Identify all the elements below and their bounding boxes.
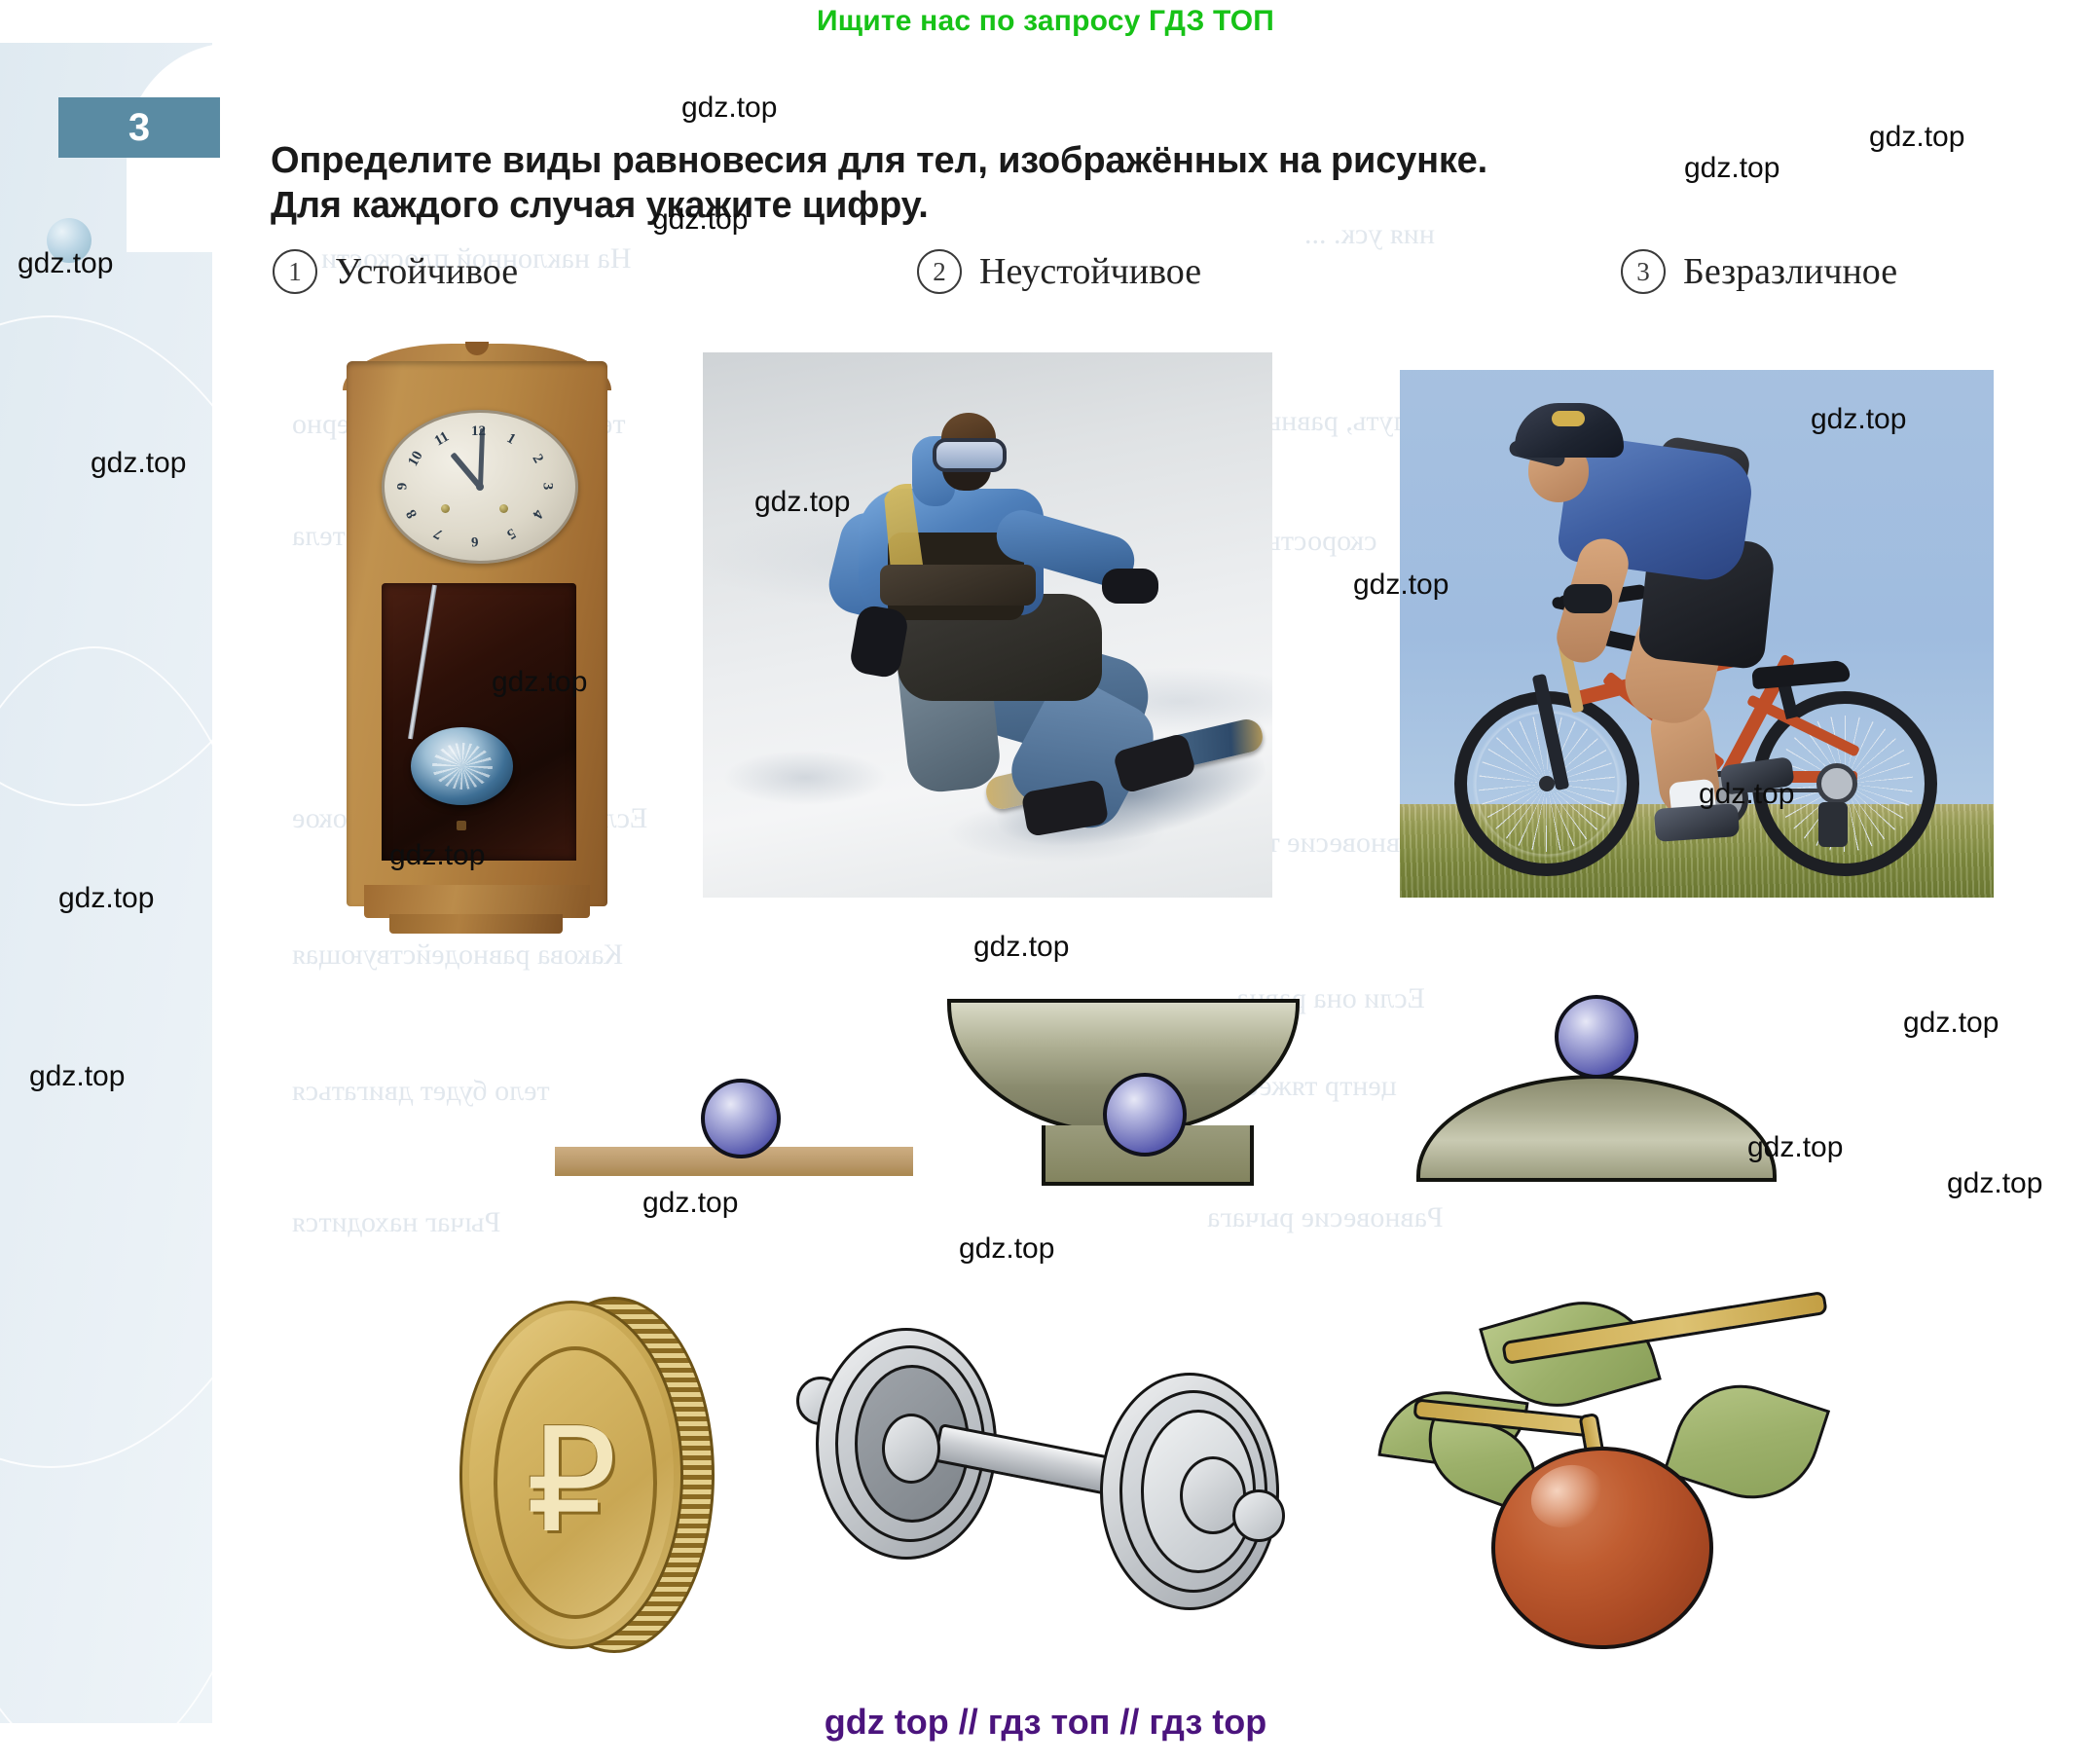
bicycle-rear-derailleur xyxy=(1818,802,1848,847)
site-watermark: gdz.top xyxy=(652,203,748,237)
site-watermark: gdz.top xyxy=(1903,1007,1999,1040)
figure-ball-in-bowl xyxy=(930,989,1319,1203)
dumbbell-left-collar xyxy=(882,1414,940,1484)
convex-dome xyxy=(1416,1075,1777,1182)
site-watermark: gdz.top xyxy=(1353,569,1449,602)
figure-dumbbell xyxy=(779,1308,1324,1630)
clock-numeral-11: 11 xyxy=(432,428,453,450)
legend-item-stable: 1 Устойчивое xyxy=(273,249,518,294)
photo-top-white-band xyxy=(1400,352,1994,370)
clock-numeral-7: 7 xyxy=(431,525,446,542)
figure-apple-on-branch xyxy=(1363,1299,1850,1688)
figure-snowboarder-photo xyxy=(703,352,1272,898)
site-watermark: gdz.top xyxy=(681,92,777,125)
front-wheel-hub xyxy=(1539,776,1555,791)
sphere-on-plank xyxy=(701,1079,781,1158)
clock-base xyxy=(364,885,590,918)
site-watermark: gdz.top xyxy=(18,247,113,280)
site-watermark: gdz.top xyxy=(973,931,1069,964)
snowboarder-right-glove xyxy=(1102,569,1158,604)
site-watermark: gdz.top xyxy=(959,1232,1054,1266)
clock-numeral-1: 1 xyxy=(503,430,518,448)
legend-number-1: 1 xyxy=(273,249,317,294)
bicycle-cassette xyxy=(1816,763,1857,804)
clock-base-foot xyxy=(389,914,563,934)
site-watermark: gdz.top xyxy=(1869,121,1964,154)
site-watermark: gdz.top xyxy=(1747,1131,1843,1164)
textbook-page: На наклонной плоскостиния уск. ...тело д… xyxy=(0,43,2091,1764)
legend-label-3: Безразличное xyxy=(1683,250,1897,293)
clock-numeral-2: 2 xyxy=(529,452,546,466)
site-watermark: gdz.top xyxy=(642,1187,738,1220)
legend-label-1: Устойчивое xyxy=(335,250,518,293)
site-watermark: gdz.top xyxy=(1811,403,1906,436)
sphere-on-dome xyxy=(1555,995,1638,1079)
task-number: 3 xyxy=(128,108,150,147)
task-prompt-line-1: Определите виды равновесия для тел, изоб… xyxy=(271,138,1789,183)
equilibrium-type-legend: 1 Устойчивое 2 Неустойчивое 3 Безразличн… xyxy=(273,249,2025,308)
dumbbell-right-end-cap xyxy=(1232,1489,1285,1542)
clock-numeral-12: 12 xyxy=(471,423,486,440)
site-watermark: gdz.top xyxy=(492,666,587,699)
site-watermark: gdz.top xyxy=(58,882,154,915)
legend-item-unstable: 2 Неустойчивое xyxy=(917,249,1201,294)
clock-winding-hole-left xyxy=(441,504,450,513)
clock-numeral-3: 3 xyxy=(538,483,555,491)
site-watermark: gdz.top xyxy=(29,1060,125,1093)
clock-winding-hole-right xyxy=(499,504,508,513)
clock-numeral-4: 4 xyxy=(529,506,546,521)
clock-numeral-9: 9 xyxy=(394,483,411,491)
snowboarder-waist-belt xyxy=(880,565,1036,606)
site-watermark: gdz.top xyxy=(754,486,850,519)
figure-ball-on-flat-plank xyxy=(555,1057,935,1194)
legend-item-neutral: 3 Безразличное xyxy=(1621,249,1897,294)
clock-pendulum-nut xyxy=(457,821,466,830)
site-watermark: gdz.top xyxy=(1947,1167,2042,1200)
legend-number-2: 2 xyxy=(917,249,962,294)
task-prompt: Определите виды равновесия для тел, изоб… xyxy=(271,138,1789,229)
clock-dial: 121234567891011 xyxy=(382,410,578,564)
figure-ruble-coin: ₽ xyxy=(458,1291,779,1661)
task-prompt-line-2: Для каждого случая укажите цифру. xyxy=(271,183,1789,228)
legend-label-2: Неустойчивое xyxy=(979,250,1201,293)
legend-number-3: 3 xyxy=(1621,249,1666,294)
site-watermark: gdz.top xyxy=(389,839,485,872)
clock-hub xyxy=(476,483,484,491)
promo-banner: Ищите нас по запросу ГДЗ ТОП xyxy=(0,0,2091,43)
bicycle-saddle xyxy=(1751,660,1851,690)
apple-fruit xyxy=(1491,1447,1713,1649)
figure-ball-on-dome xyxy=(1416,989,1806,1203)
snowboarder-goggles xyxy=(933,438,1007,472)
site-watermark: gdz.top xyxy=(91,447,186,480)
footer-watermark: gdz top // гдз топ // гдз top xyxy=(0,1702,2091,1743)
clock-numeral-8: 8 xyxy=(403,506,421,521)
ruble-symbol: ₽ xyxy=(513,1397,630,1564)
task-number-badge: 3 xyxy=(58,97,220,158)
sphere-in-bowl xyxy=(1103,1073,1187,1157)
site-watermark: gdz.top xyxy=(1699,778,1794,811)
clock-pendulum-bob xyxy=(411,727,513,805)
site-watermark: gdz.top xyxy=(1684,152,1779,185)
cyclist-glove xyxy=(1563,584,1612,613)
cyclist-helmet xyxy=(1515,403,1624,458)
coin-face: ₽ xyxy=(459,1301,683,1649)
clock-numeral-10: 10 xyxy=(405,449,426,469)
clock-numeral-5: 5 xyxy=(503,525,518,542)
promo-banner-text: Ищите нас по запросу ГДЗ ТОП xyxy=(817,5,1274,38)
clock-numeral-6: 6 xyxy=(471,533,479,549)
